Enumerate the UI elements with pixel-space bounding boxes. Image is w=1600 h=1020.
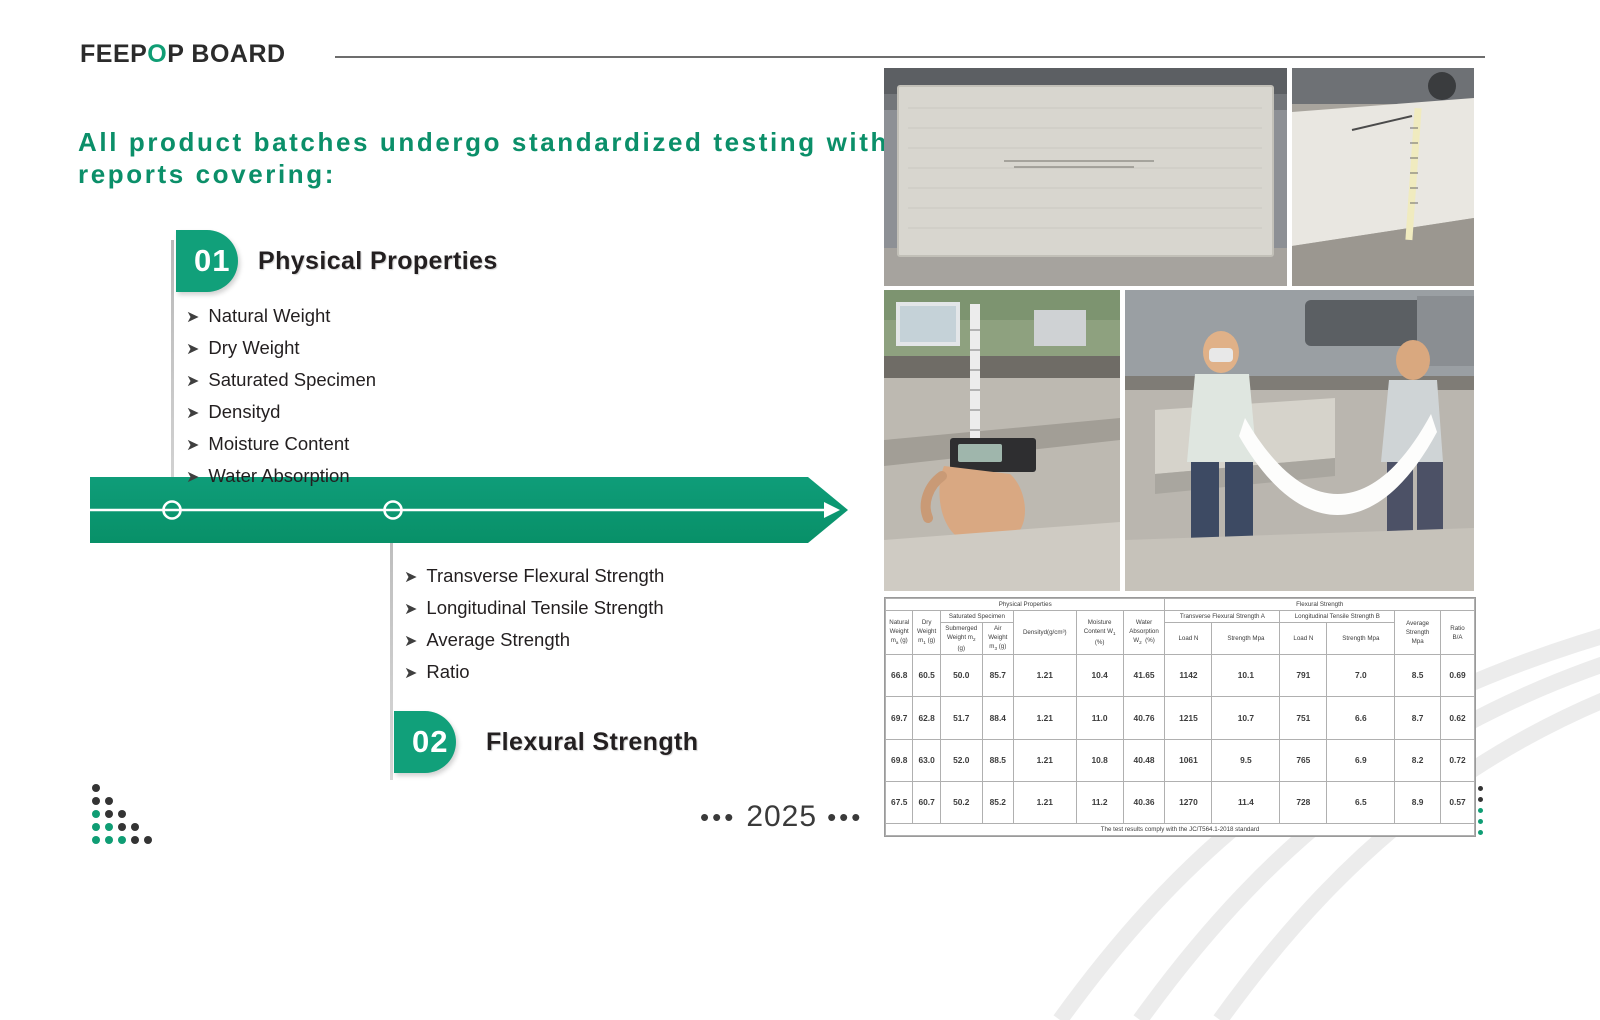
chevron-right-icon: ➤ — [186, 340, 199, 360]
table-cell: 1270 — [1165, 781, 1212, 823]
table-cell: 60.7 — [913, 781, 940, 823]
table-subgroup-header-row: NaturalWeightma (g) DryWeightm1 (g) Satu… — [886, 611, 1475, 623]
dot — [105, 810, 113, 818]
dot — [92, 810, 100, 818]
table-cell: 51.7 — [940, 697, 982, 739]
table-cell: 1.21 — [1013, 739, 1076, 781]
chevron-right-icon: ➤ — [404, 664, 417, 684]
step-number-02: 02 — [394, 724, 448, 760]
table-cell: 60.5 — [913, 655, 940, 697]
table-row: 66.860.550.085.71.2110.441.65114210.1791… — [886, 655, 1475, 697]
dot — [1478, 786, 1483, 791]
list-item-label: Moisture Content — [208, 434, 349, 454]
dot — [1478, 830, 1483, 835]
table-cell: 11.4 — [1212, 781, 1280, 823]
dot — [92, 836, 100, 844]
ellipsis-left: ••• — [700, 802, 736, 833]
header-divider-rule — [335, 56, 1485, 58]
dot — [92, 784, 100, 792]
table-cell: 9.5 — [1212, 739, 1280, 781]
brand-logo: FEEPOP BOARD — [80, 40, 286, 69]
photo-caliper-thickness-measurement — [884, 290, 1120, 591]
step-1-bullet-list: ➤ Natural Weight ➤ Dry Weight ➤ Saturate… — [186, 306, 376, 498]
brand-name: FEEPOP BOARD — [80, 40, 286, 69]
table-cell: 50.2 — [940, 781, 982, 823]
header-water-absorption: WaterAbsorptionW2 (%) — [1123, 611, 1165, 655]
list-item: ➤ Ratio — [404, 662, 664, 684]
photo-board-edge-with-tape-measure — [1292, 68, 1474, 286]
chevron-right-icon: ➤ — [186, 404, 199, 424]
table-cell: 6.5 — [1327, 781, 1395, 823]
table-cell: 52.0 — [940, 739, 982, 781]
table-cell: 11.2 — [1076, 781, 1123, 823]
table-cell: 751 — [1280, 697, 1327, 739]
list-item: ➤ Transverse Flexural Strength — [404, 566, 664, 588]
header-submerged-weight: SubmergedWeight m2(g) — [940, 623, 982, 655]
dot — [131, 836, 139, 844]
table-row: 67.560.750.285.21.2111.240.36127011.4728… — [886, 781, 1475, 823]
chevron-right-icon: ➤ — [404, 600, 417, 620]
photo-collage — [884, 68, 1474, 591]
table-row: 69.762.851.788.41.2111.040.76121510.7751… — [886, 697, 1475, 739]
table-cell: 69.8 — [886, 739, 913, 781]
table-cell: 40.76 — [1123, 697, 1165, 739]
step-title-flexural-strength: Flexural Strength — [486, 728, 698, 757]
chevron-right-icon: ➤ — [186, 436, 199, 456]
step-badge-02: 02 — [394, 711, 456, 773]
chevron-right-icon: ➤ — [186, 372, 199, 392]
table-cell: 10.8 — [1076, 739, 1123, 781]
header-saturated-specimen: Saturated Specimen — [940, 611, 1013, 623]
table-cell: 66.8 — [886, 655, 913, 697]
dot — [118, 823, 126, 831]
dot — [105, 836, 113, 844]
table-cell: 1.21 — [1013, 697, 1076, 739]
header-transverse-flexural-strength-a: Transverse Flexural Strength A — [1165, 611, 1280, 623]
table-cell: 40.48 — [1123, 739, 1165, 781]
header-ratio: RatioB/A — [1440, 611, 1474, 655]
table-cell: 8.7 — [1395, 697, 1441, 739]
dot — [131, 823, 139, 831]
table-cell: 8.5 — [1395, 655, 1441, 697]
table-cell: 0.72 — [1440, 739, 1474, 781]
list-item-label: Densityd — [208, 402, 280, 422]
chevron-right-icon: ➤ — [404, 632, 417, 652]
list-item-label: Transverse Flexural Strength — [426, 566, 664, 586]
table-cell: 1061 — [1165, 739, 1212, 781]
group-header-physical-properties: Physical Properties — [886, 599, 1165, 611]
header-longitudinal-strength-mpa: Strength Mpa — [1327, 623, 1395, 655]
list-item: ➤ Densityd — [186, 402, 376, 424]
table-cell: 85.2 — [982, 781, 1013, 823]
table-cell: 7.0 — [1327, 655, 1395, 697]
header-average-strength: AverageStrengthMpa — [1395, 611, 1441, 655]
table-cell: 8.2 — [1395, 739, 1441, 781]
table-cell: 0.69 — [1440, 655, 1474, 697]
table-cell: 40.36 — [1123, 781, 1165, 823]
dot-grid-decoration — [80, 784, 144, 844]
table-cell: 50.0 — [940, 655, 982, 697]
table-cell: 10.4 — [1076, 655, 1123, 697]
table-cell: 0.57 — [1440, 781, 1474, 823]
list-item-label: Ratio — [426, 662, 469, 682]
dot — [144, 836, 152, 844]
table-leaf-header-row: SubmergedWeight m2(g) AirWeightm3 (g) Lo… — [886, 623, 1475, 655]
table-cell: 0.62 — [1440, 697, 1474, 739]
dot — [105, 823, 113, 831]
table-cell: 791 — [1280, 655, 1327, 697]
photo-fiber-cement-board-sheet — [884, 68, 1287, 286]
list-item: ➤ Water Absorption — [186, 466, 376, 488]
table-cell: 10.1 — [1212, 655, 1280, 697]
dot — [118, 836, 126, 844]
table-cell: 62.8 — [913, 697, 940, 739]
table-cell: 765 — [1280, 739, 1327, 781]
year-label: 2025 — [746, 800, 817, 834]
table-cell: 85.7 — [982, 655, 1013, 697]
table-cell: 41.65 — [1123, 655, 1165, 697]
table-cell: 1142 — [1165, 655, 1212, 697]
footer-year: ••• 2025 ••• — [700, 800, 863, 834]
list-item-label: Longitudinal Tensile Strength — [426, 598, 663, 618]
dot — [92, 823, 100, 831]
table-cell: 11.0 — [1076, 697, 1123, 739]
brand-part-2: P BOARD — [167, 40, 285, 68]
test-results-table: Physical Properties Flexural Strength Na… — [884, 597, 1476, 837]
table-cell: 6.6 — [1327, 697, 1395, 739]
page-title: All product batches undergo standardized… — [78, 126, 898, 190]
dot — [92, 797, 100, 805]
table-cell: 10.7 — [1212, 697, 1280, 739]
header-longitudinal-load-n: Load N — [1280, 623, 1327, 655]
list-item-label: Dry Weight — [208, 338, 299, 358]
list-item-label: Average Strength — [426, 630, 570, 650]
list-item: ➤ Moisture Content — [186, 434, 376, 456]
ellipsis-right: ••• — [827, 802, 863, 833]
group-header-flexural-strength: Flexural Strength — [1165, 599, 1475, 611]
table-footnote: The test results comply with the JC/T564… — [886, 824, 1475, 836]
table-cell: 1.21 — [1013, 781, 1076, 823]
header-transverse-load-n: Load N — [1165, 623, 1212, 655]
header-density: Densityd(g/cm³) — [1013, 611, 1076, 655]
table-footnote-row: The test results comply with the JC/T564… — [886, 824, 1475, 836]
header-longitudinal-tensile-strength-b: Longitudinal Tensile Strength B — [1280, 611, 1395, 623]
table-cell: 6.9 — [1327, 739, 1395, 781]
table-cell: 88.4 — [982, 697, 1013, 739]
dot — [105, 797, 113, 805]
table-cell: 1215 — [1165, 697, 1212, 739]
header-natural-weight: NaturalWeightma (g) — [886, 611, 913, 655]
dot — [1478, 819, 1483, 824]
header-air-weight: AirWeightm3 (g) — [982, 623, 1013, 655]
step-number-01: 01 — [176, 243, 230, 279]
brand-highlight-o: O — [147, 40, 167, 68]
header-transverse-strength-mpa: Strength Mpa — [1212, 623, 1280, 655]
table-cell: 67.5 — [886, 781, 913, 823]
list-item-label: Natural Weight — [208, 306, 330, 326]
table-row: 69.863.052.088.51.2110.840.4810619.57656… — [886, 739, 1475, 781]
right-edge-dot-decoration — [1478, 786, 1486, 842]
photo-two-workers-flexing-board — [1125, 290, 1474, 591]
chevron-right-icon: ➤ — [186, 308, 199, 328]
table-group-header-row: Physical Properties Flexural Strength — [886, 599, 1475, 611]
step-badge-01: 01 — [176, 230, 238, 292]
list-item: ➤ Saturated Specimen — [186, 370, 376, 392]
header-dry-weight: DryWeightm1 (g) — [913, 611, 940, 655]
chevron-right-icon: ➤ — [404, 568, 417, 588]
brand-part-1: FEEP — [80, 40, 147, 68]
table-cell: 728 — [1280, 781, 1327, 823]
list-item: ➤ Average Strength — [404, 630, 664, 652]
header-moisture-content: MoistureContent W1(%) — [1076, 611, 1123, 655]
table-cell: 88.5 — [982, 739, 1013, 781]
step-title-physical-properties: Physical Properties — [258, 247, 498, 276]
table-cell: 69.7 — [886, 697, 913, 739]
list-item-label: Water Absorption — [208, 466, 349, 486]
list-item: ➤ Natural Weight — [186, 306, 376, 328]
table-cell: 1.21 — [1013, 655, 1076, 697]
step-2-bullet-list: ➤ Transverse Flexural Strength ➤ Longitu… — [404, 566, 664, 694]
list-item: ➤ Longitudinal Tensile Strength — [404, 598, 664, 620]
list-item-label: Saturated Specimen — [208, 370, 376, 390]
dot — [1478, 808, 1483, 813]
table-cell: 63.0 — [913, 739, 940, 781]
list-item: ➤ Dry Weight — [186, 338, 376, 360]
dot — [118, 810, 126, 818]
table-cell: 8.9 — [1395, 781, 1441, 823]
dot — [1478, 797, 1483, 802]
chevron-right-icon: ➤ — [186, 468, 199, 488]
